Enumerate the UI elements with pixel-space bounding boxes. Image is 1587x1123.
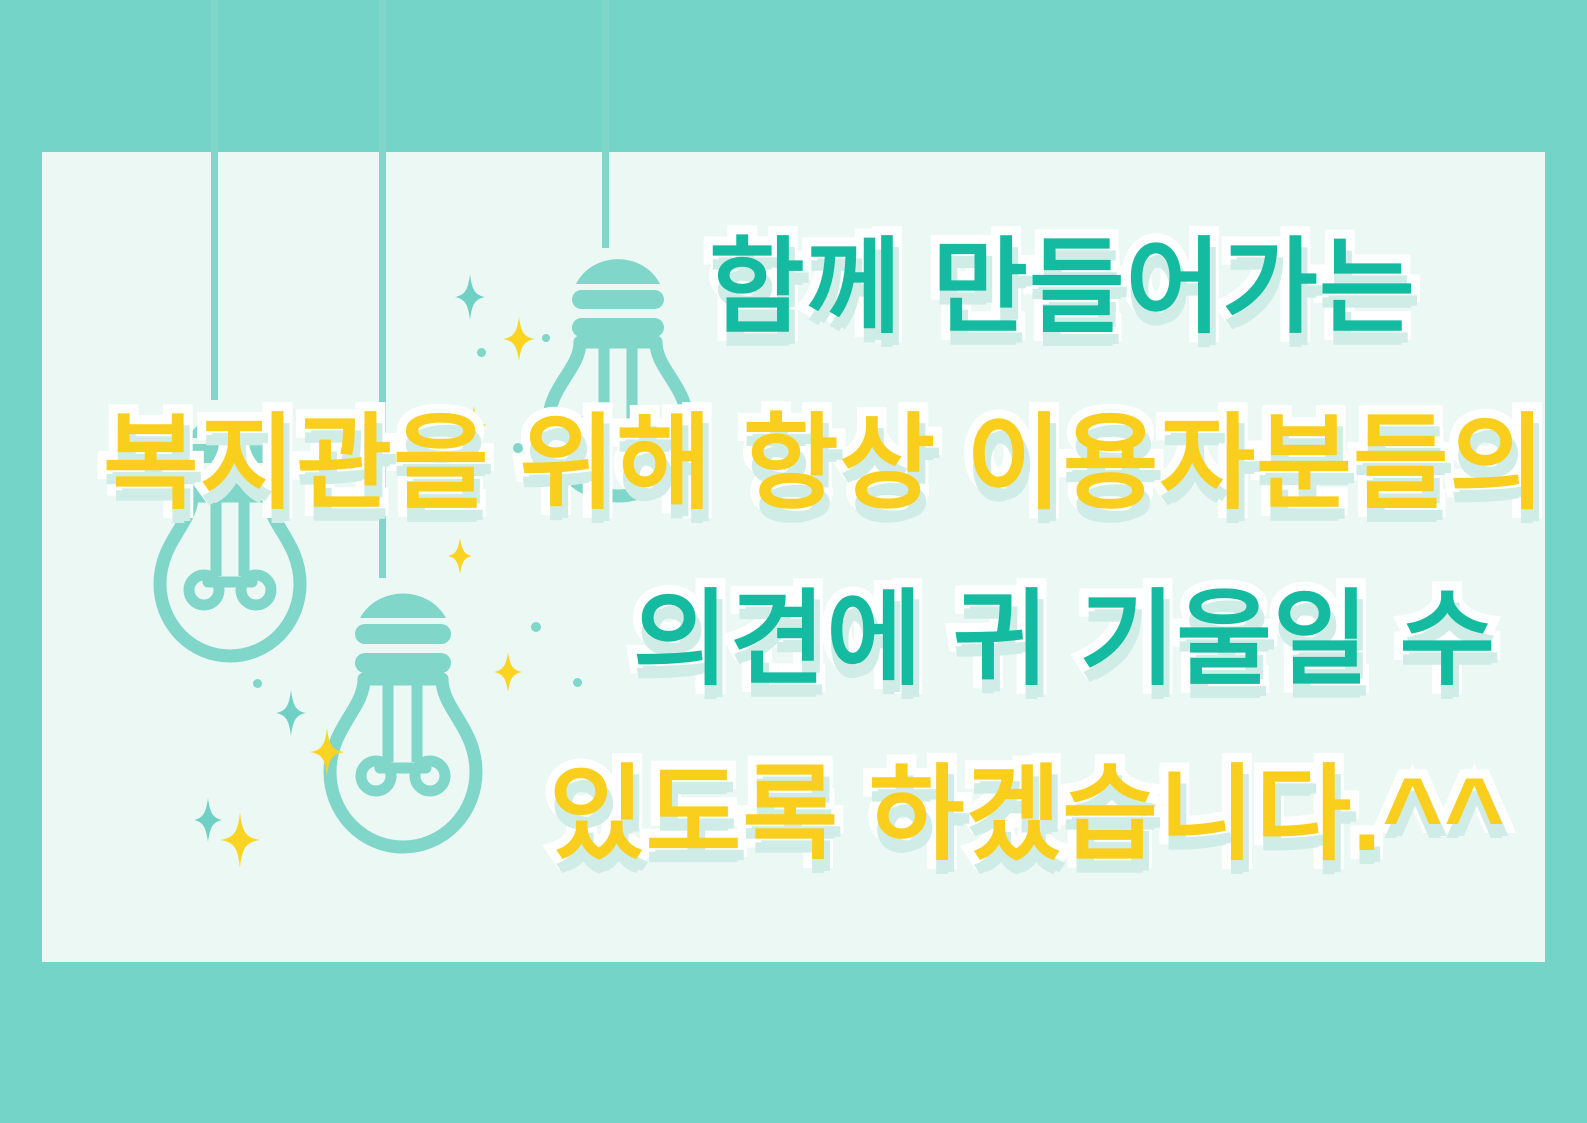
bulb-cord-1-inner xyxy=(211,152,218,400)
notice-banner: 함께 만들어가는 복지관을 위해 항상 이용자분들의 의견에 귀 기울일 수 있… xyxy=(0,0,1587,1123)
sparkle-icon-teal-1 xyxy=(455,274,485,320)
sparkle-icon-teal-3 xyxy=(194,798,222,842)
dot-decoration-6 xyxy=(542,334,550,342)
sparkle-icon-yellow-5 xyxy=(310,728,344,776)
sparkle-icon-yellow-3 xyxy=(448,538,472,574)
sparkle-icon-yellow-6 xyxy=(220,812,260,868)
sparkle-icon-yellow-4 xyxy=(494,652,522,692)
sparkle-icon-yellow-2 xyxy=(461,406,487,444)
dot-decoration-4 xyxy=(573,678,582,687)
dot-decoration-3 xyxy=(531,622,541,632)
dot-decoration-5 xyxy=(253,679,262,688)
lightbulb-icon-lower-middle xyxy=(298,562,508,852)
lightbulb-icon-top-center xyxy=(518,230,718,490)
content-panel xyxy=(42,152,1545,962)
sparkle-icon-yellow-1 xyxy=(503,317,535,361)
dot-decoration-2 xyxy=(513,443,523,453)
sparkle-icon-teal-2 xyxy=(276,690,306,736)
bulb-cord-2-inner xyxy=(379,152,386,578)
dot-decoration-1 xyxy=(477,348,486,357)
